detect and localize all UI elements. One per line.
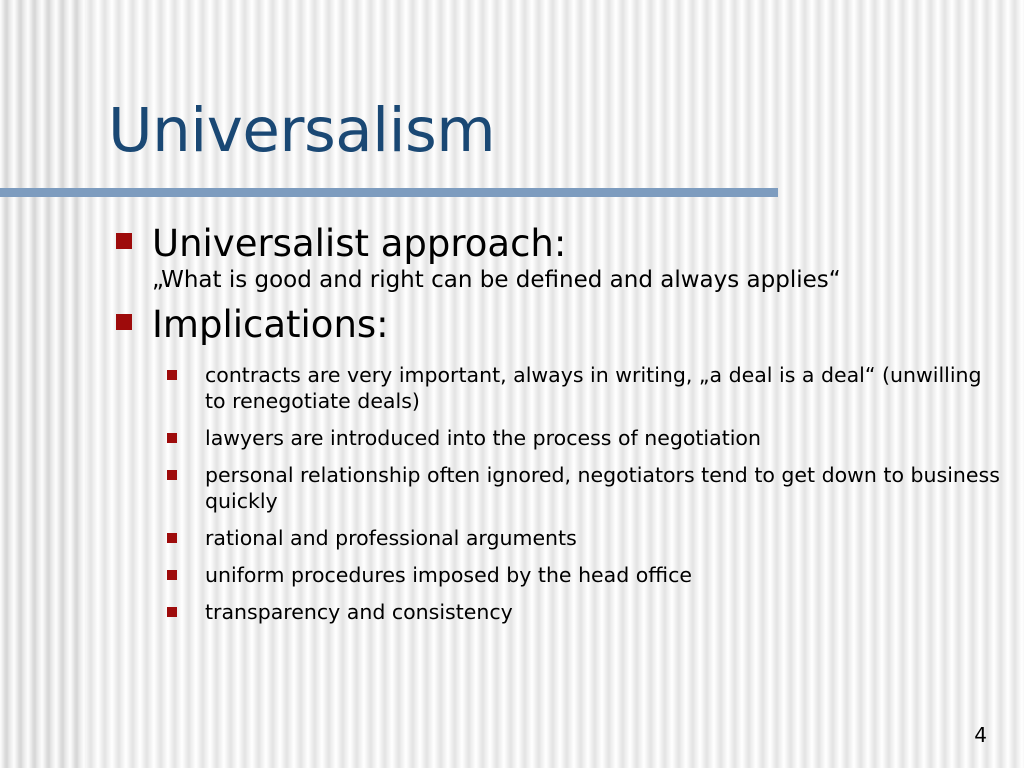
list-item-label: contracts are very important, always in … (205, 362, 1002, 414)
section-spacer (112, 294, 1002, 302)
list-item: transparency and consistency (112, 599, 1002, 625)
square-bullet-icon (167, 433, 177, 443)
list-item: personal relationship often ignored, neg… (112, 462, 1002, 514)
list-item: contracts are very important, always in … (112, 362, 1002, 414)
list-item-label: uniform procedures imposed by the head o… (205, 562, 1002, 588)
list-item: lawyers are introduced into the process … (112, 425, 1002, 451)
slide: Universalism Universalist approach: „Wha… (0, 0, 1024, 768)
square-bullet-icon (167, 370, 177, 380)
bullet-level1-label: Implications: (152, 303, 389, 346)
title-divider-rule (0, 188, 778, 197)
body-content: Universalist approach: „What is good and… (112, 221, 1002, 636)
list-item: uniform procedures imposed by the head o… (112, 562, 1002, 588)
list-item-label: transparency and consistency (205, 599, 1002, 625)
square-bullet-icon (116, 314, 132, 330)
implications-list: contracts are very important, always in … (112, 362, 1002, 625)
square-bullet-icon (167, 470, 177, 480)
bullet-item-level1: Universalist approach: (112, 221, 1002, 267)
quotation-text: „What is good and right can be defined a… (112, 267, 912, 294)
bullet-item-level1: Implications: (112, 302, 1002, 348)
bullet-level1-label: Universalist approach: (152, 222, 566, 265)
slide-content-layer: Universalism Universalist approach: „Wha… (0, 0, 1024, 768)
page-title: Universalism (108, 95, 948, 167)
square-bullet-icon (167, 607, 177, 617)
list-item: rational and professional arguments (112, 525, 1002, 551)
list-item-label: lawyers are introduced into the process … (205, 425, 1002, 451)
section-spacer (112, 348, 1002, 362)
square-bullet-icon (167, 533, 177, 543)
list-item-label: personal relationship often ignored, neg… (205, 462, 1002, 514)
list-item-label: rational and professional arguments (205, 525, 1002, 551)
page-number: 4 (974, 723, 987, 747)
title-block: Universalism (108, 95, 948, 167)
square-bullet-icon (167, 570, 177, 580)
square-bullet-icon (116, 233, 132, 249)
